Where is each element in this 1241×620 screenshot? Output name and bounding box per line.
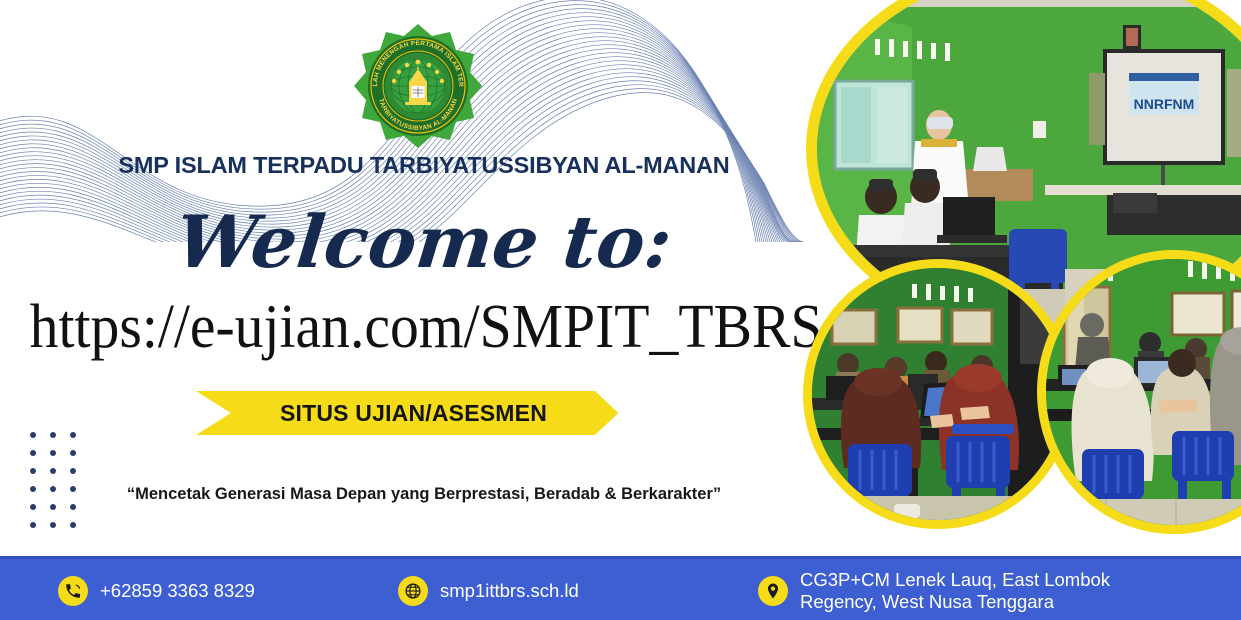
ribbon-label: SITUS UJIAN/ASESMEN [280, 400, 547, 427]
banner-root: SEKOLAH MENENGAH PERTAMA ISLAM TERPADU T… [0, 0, 1241, 620]
phone-icon [58, 576, 88, 606]
exam-site-url[interactable]: https://e-ujian.com/SMPIT_TBRS [30, 296, 819, 358]
school-logo: SEKOLAH MENENGAH PERTAMA ISLAM TERPADU T… [348, 24, 488, 152]
location-pin-icon [758, 576, 788, 606]
footer-phone-text: +62859 3363 8329 [100, 580, 255, 602]
school-name-heading: SMP ISLAM TERPADU TARBIYATUSSIBYAN AL-MA… [0, 152, 848, 179]
students-computer-lab-photo [803, 259, 1073, 529]
footer-phone[interactable]: +62859 3363 8329 [58, 576, 255, 606]
dot-grid-decoration [30, 432, 80, 528]
welcome-script-text: Welcome to: [0, 206, 852, 278]
globe-icon [398, 576, 428, 606]
footer-website[interactable]: smp1ittbrs.sch.ld [398, 576, 579, 606]
footer-website-text: smp1ittbrs.sch.ld [440, 580, 579, 602]
footer-address-text: CG3P+CM Lenek Lauq, East Lombok Regency,… [800, 569, 1110, 613]
ribbon-banner: SITUS UJIAN/ASESMEN [196, 391, 631, 435]
footer-bar: +62859 3363 8329 smp1ittbrs.sch.ld C [0, 556, 1241, 620]
projector-screen-text: NNRFNM [1134, 96, 1195, 112]
school-tagline: “Mencetak Generasi Masa Depan yang Berpr… [0, 485, 848, 504]
footer-address: CG3P+CM Lenek Lauq, East Lombok Regency,… [758, 569, 1110, 613]
